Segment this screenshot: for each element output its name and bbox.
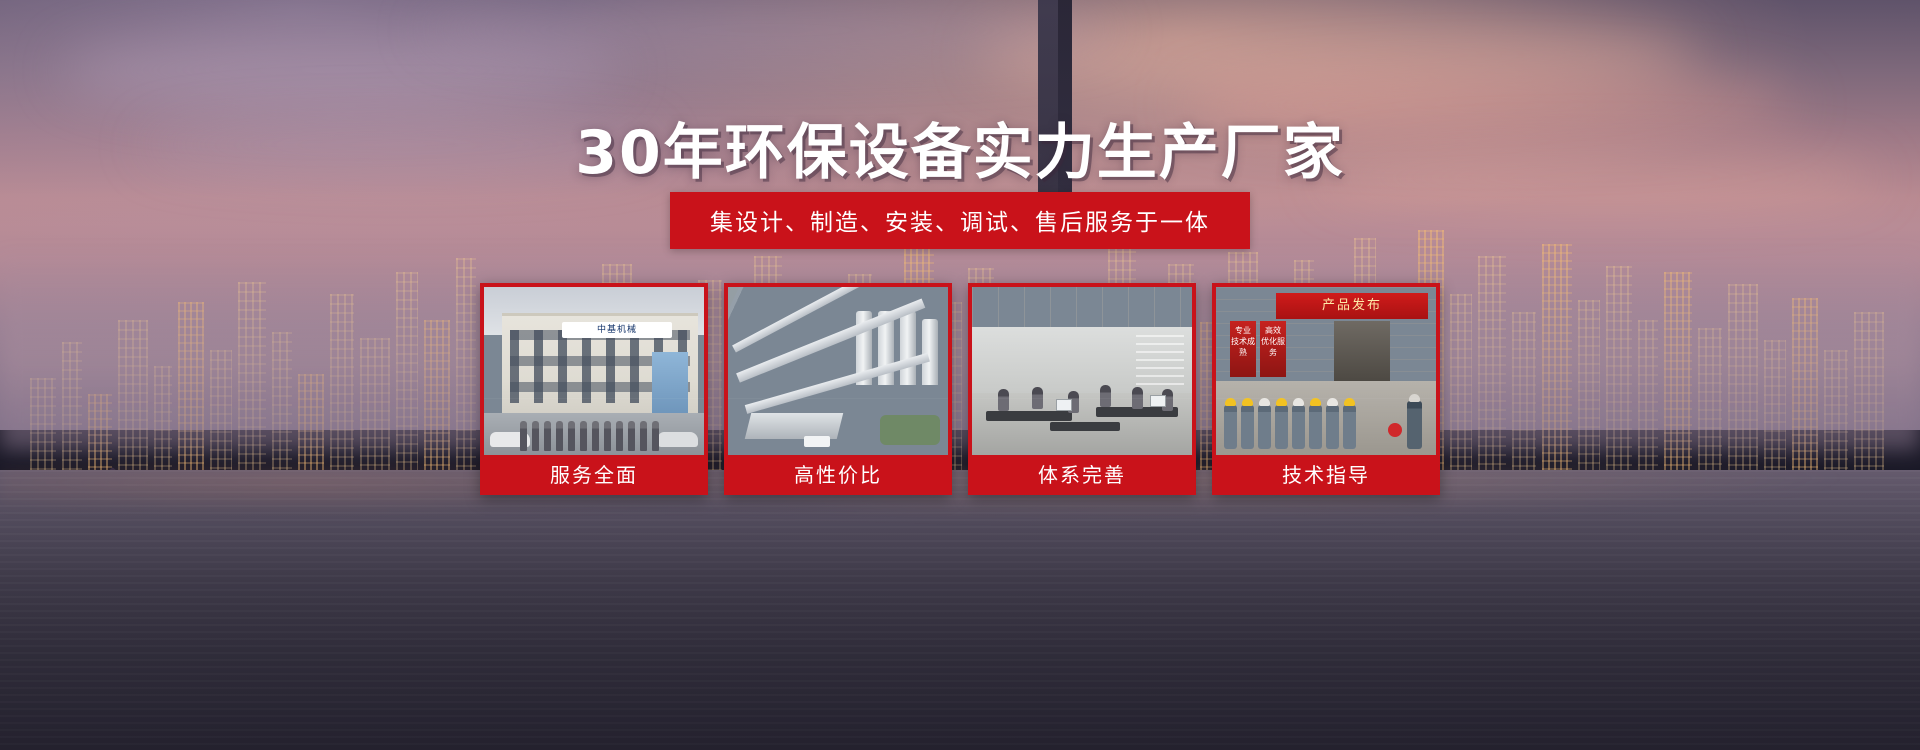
desk xyxy=(1050,422,1120,431)
worker-with-helmet xyxy=(1326,405,1339,449)
staff-member xyxy=(616,421,623,451)
card-photo-office-building: 中基机械 xyxy=(484,287,704,455)
worker-with-helmet xyxy=(1224,405,1237,449)
worker-with-helmet xyxy=(1343,405,1356,449)
company-sign: 中基机械 xyxy=(562,322,672,338)
staff-member xyxy=(532,421,539,451)
hero-banner: 30年环保设备实力生产厂家 集设计、制造、安装、调试、售后服务于一体 中基机械 xyxy=(0,0,1920,750)
card-photo-workshop-crew: 产品发布 专业 技术成熟 高效 优化服务 xyxy=(1216,287,1436,455)
office-worker xyxy=(998,389,1009,411)
red-equipment xyxy=(1388,423,1402,437)
storage-silo xyxy=(900,311,916,385)
card-label: 高性价比 xyxy=(728,455,948,495)
feature-card[interactable]: 高性价比 xyxy=(724,283,952,495)
vertical-banner-right: 高效 优化服务 xyxy=(1260,321,1286,377)
supervisor xyxy=(1407,401,1422,449)
office-worker xyxy=(1132,387,1143,409)
office-building: 中基机械 xyxy=(502,313,698,425)
storage-silo xyxy=(922,319,938,385)
workshop-door xyxy=(1334,321,1390,383)
office-worker xyxy=(1100,385,1111,407)
feature-card-list: 中基机械 xyxy=(0,283,1920,495)
parked-car xyxy=(658,432,698,447)
card-photo-aerial-plant xyxy=(728,287,948,455)
staff-lineup xyxy=(520,421,659,451)
staff-member xyxy=(652,421,659,451)
office-window xyxy=(1136,335,1184,387)
desk xyxy=(986,411,1072,421)
card-label: 技术指导 xyxy=(1216,455,1436,495)
workshop-banner: 产品发布 xyxy=(1276,293,1428,319)
worker-with-helmet xyxy=(1241,405,1254,449)
feature-card[interactable]: 产品发布 专业 技术成熟 高效 优化服务 xyxy=(1212,283,1440,495)
worker-with-helmet xyxy=(1258,405,1271,449)
monitor xyxy=(1056,399,1072,411)
worker-with-helmet xyxy=(1309,405,1322,449)
green-area xyxy=(880,415,940,445)
subtitle-badge: 集设计、制造、安装、调试、售后服务于一体 xyxy=(670,192,1250,249)
staff-member xyxy=(628,421,635,451)
card-label: 服务全面 xyxy=(484,455,704,495)
vertical-banner-left: 专业 技术成熟 xyxy=(1230,321,1256,377)
feature-card[interactable]: 体系完善 xyxy=(968,283,1196,495)
staff-member xyxy=(592,421,599,451)
worker-with-helmet xyxy=(1292,405,1305,449)
card-photo-office-team xyxy=(972,287,1192,455)
staff-member xyxy=(640,421,647,451)
staff-member xyxy=(520,421,527,451)
worker-with-helmet xyxy=(1275,405,1288,449)
page-title: 30年环保设备实力生产厂家 xyxy=(0,104,1920,191)
banner-content: 30年环保设备实力生产厂家 集设计、制造、安装、调试、售后服务于一体 中基机械 xyxy=(0,0,1920,750)
staff-member xyxy=(580,421,587,451)
subtitle-container: 集设计、制造、安装、调试、售后服务于一体 xyxy=(0,192,1920,249)
staff-member xyxy=(544,421,551,451)
worker-group xyxy=(1224,405,1356,449)
ceiling xyxy=(972,287,1192,327)
staff-member xyxy=(556,421,563,451)
feature-card[interactable]: 中基机械 xyxy=(480,283,708,495)
staff-member xyxy=(604,421,611,451)
monitor xyxy=(1150,395,1166,407)
truck xyxy=(804,436,830,447)
office-worker xyxy=(1032,387,1043,409)
card-label: 体系完善 xyxy=(972,455,1192,495)
staff-member xyxy=(568,421,575,451)
